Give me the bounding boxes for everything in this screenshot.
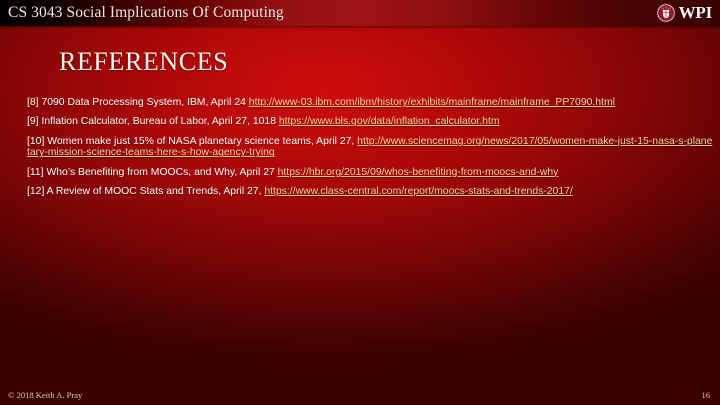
page-title: REFERENCES [59, 47, 228, 77]
reference-label: [12] [27, 186, 47, 197]
reference-citation: 7090 Data Processing System, IBM, April … [41, 97, 248, 108]
slide-header-band: CS 3043 Social Implications Of Computing… [0, 0, 720, 26]
wpi-logo: WPI [656, 1, 712, 25]
reference-citation: A Review of MOOC Stats and Trends, April… [47, 186, 265, 197]
reference-label: [8] [27, 97, 41, 108]
slide-number: 16 [702, 390, 711, 400]
reference-link[interactable]: https://hbr.org/2015/09/whos-benefiting-… [278, 167, 559, 178]
reference-label: [10] [27, 136, 47, 147]
reference-label: [9] [27, 116, 41, 127]
footer-copyright: © 2018 Keith A. Pray [8, 390, 82, 400]
wpi-seal-icon [656, 3, 676, 23]
slide-canvas: CS 3043 Social Implications Of Computing… [0, 0, 720, 405]
reference-link[interactable]: https://www.class-central.com/report/moo… [264, 186, 572, 197]
reference-link[interactable]: http://www-03.ibm.com/ibm/history/exhibi… [249, 97, 615, 108]
wpi-wordmark: WPI [679, 3, 712, 23]
reference-citation: Women make just 15% of NASA planetary sc… [47, 136, 357, 147]
reference-label: [11] [27, 167, 46, 178]
reference-citation: Inflation Calculator, Bureau of Labor, A… [41, 116, 278, 127]
list-item: [8] 7090 Data Processing System, IBM, Ap… [27, 97, 715, 109]
list-item: [12] A Review of MOOC Stats and Trends, … [27, 186, 715, 198]
course-title: CS 3043 Social Implications Of Computing [8, 0, 284, 26]
list-item: [11] Who’s Benefiting from MOOCs, and Wh… [27, 167, 715, 179]
list-item: [10] Women make just 15% of NASA planeta… [27, 136, 715, 160]
reference-citation: Who’s Benefiting from MOOCs, and Why, Ap… [46, 167, 277, 178]
references-list: [8] 7090 Data Processing System, IBM, Ap… [27, 97, 715, 205]
list-item: [9] Inflation Calculator, Bureau of Labo… [27, 116, 715, 128]
reference-link[interactable]: https://www.bls.gov/data/inflation_calcu… [279, 116, 500, 127]
